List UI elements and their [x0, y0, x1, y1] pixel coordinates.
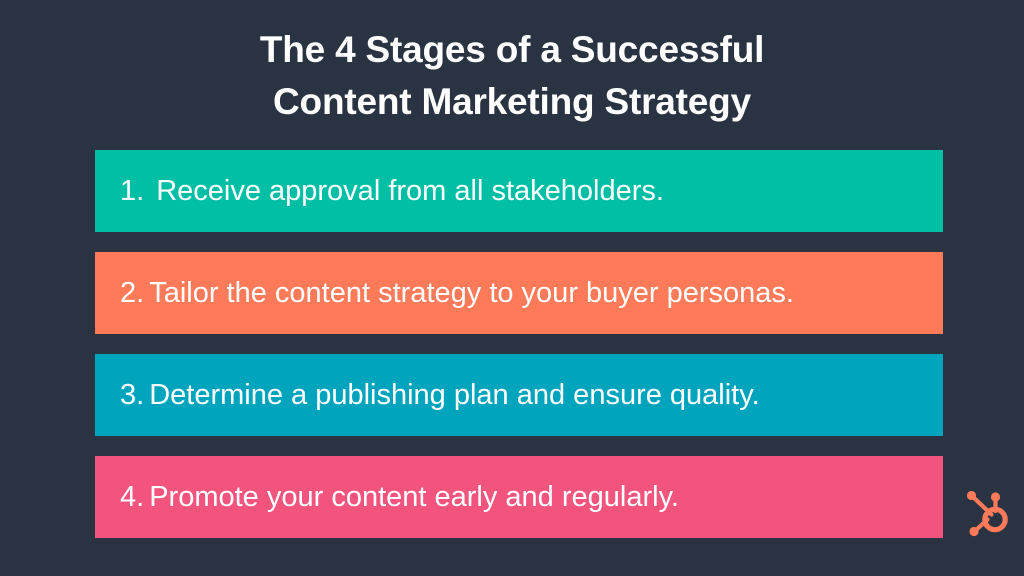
- stage-number-4: 4.: [120, 481, 144, 513]
- stage-number-2: 2.: [120, 277, 144, 309]
- stage-bar-1: 1. Receive approval from all stakeholder…: [95, 150, 943, 232]
- stage-bar-2: 2. Tailor the content strategy to your b…: [95, 252, 943, 334]
- stage-text-2: Tailor the content strategy to your buye…: [149, 277, 794, 309]
- stage-text-1: Receive approval from all stakeholders.: [156, 175, 664, 207]
- stage-text-4: Promote your content early and regularly…: [149, 481, 679, 513]
- infographic-canvas: The 4 Stages of a Successful Content Mar…: [0, 0, 1024, 576]
- stage-list: 1. Receive approval from all stakeholder…: [95, 150, 943, 538]
- title-line-2: Content Marketing Strategy: [0, 76, 1024, 128]
- stage-bar-3: 3. Determine a publishing plan and ensur…: [95, 354, 943, 436]
- page-title: The 4 Stages of a Successful Content Mar…: [0, 24, 1024, 128]
- stage-number-3: 3.: [120, 379, 144, 411]
- stage-bar-4: 4. Promote your content early and regula…: [95, 456, 943, 538]
- stage-text-3: Determine a publishing plan and ensure q…: [149, 379, 759, 411]
- stage-number-1: 1.: [120, 175, 144, 207]
- hubspot-sprocket-icon: [962, 487, 1010, 537]
- title-line-1: The 4 Stages of a Successful: [0, 24, 1024, 76]
